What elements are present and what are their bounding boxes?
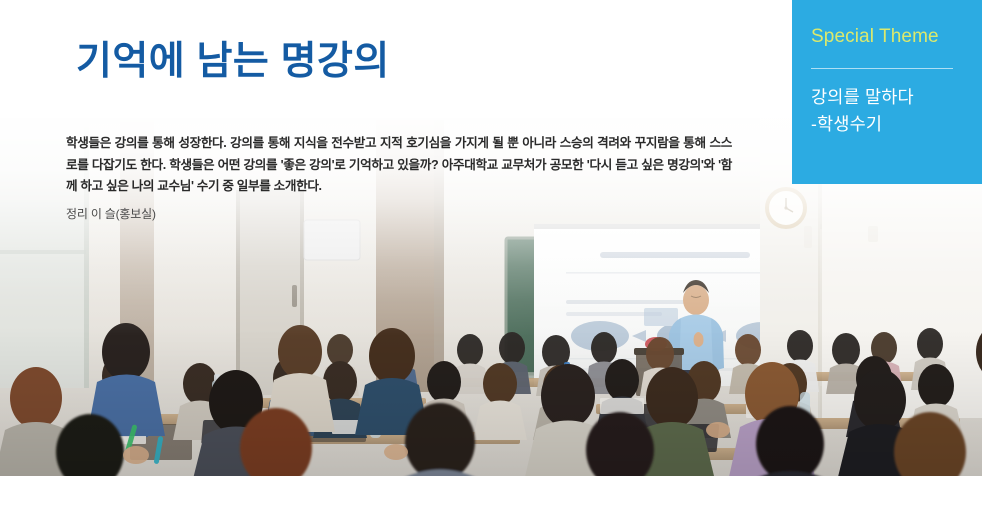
- special-theme-title: 강의를 말하다 -학생수기: [811, 84, 914, 138]
- article-lede: 학생들은 강의를 통해 성장한다. 강의를 통해 지식을 전수받고 지적 호기심…: [66, 133, 732, 198]
- page-title: 기억에 남는 명강의: [76, 38, 390, 86]
- article-hero-page: AJOU UNIVERSITY: [0, 0, 982, 518]
- page-bottom-whitespace: [0, 476, 982, 518]
- special-theme-title-line1: 강의를 말하다: [811, 84, 914, 111]
- special-theme-kicker: Special Theme: [811, 24, 939, 50]
- special-theme-panel: Special Theme 강의를 말하다 -학생수기: [792, 0, 982, 184]
- article-byline: 정리 이 슬(홍보실): [66, 205, 156, 223]
- special-theme-title-line2: -학생수기: [811, 111, 914, 138]
- special-theme-divider: [811, 68, 953, 69]
